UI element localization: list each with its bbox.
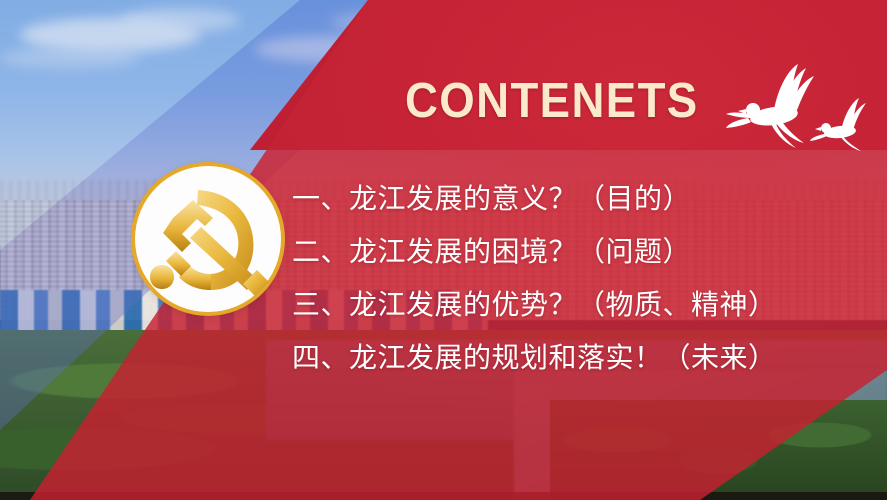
cpc-emblem — [135, 166, 281, 312]
contents-list: 一、龙江发展的意义？（目的） 二、龙江发展的困境？（问题） 三、龙江发展的优势？… — [292, 172, 852, 384]
dove-icon — [810, 98, 866, 151]
list-item[interactable]: 三、龙江发展的优势？（物质、精神） — [292, 278, 852, 331]
list-item[interactable]: 一、龙江发展的意义？（目的） — [292, 172, 852, 225]
dove-icon — [726, 64, 814, 148]
list-item[interactable]: 二、龙江发展的困境？（问题） — [292, 225, 852, 278]
list-item[interactable]: 四、龙江发展的规划和落实！（未来） — [292, 331, 852, 384]
hammer-and-sickle-icon — [135, 166, 281, 312]
presentation-slide: CONTENETS 一、龙江发展的意义？（目的） 二、龙江发展的困境？（问题） … — [0, 0, 887, 500]
doves-decoration — [726, 58, 886, 153]
page-title: CONTENETS — [405, 76, 647, 127]
